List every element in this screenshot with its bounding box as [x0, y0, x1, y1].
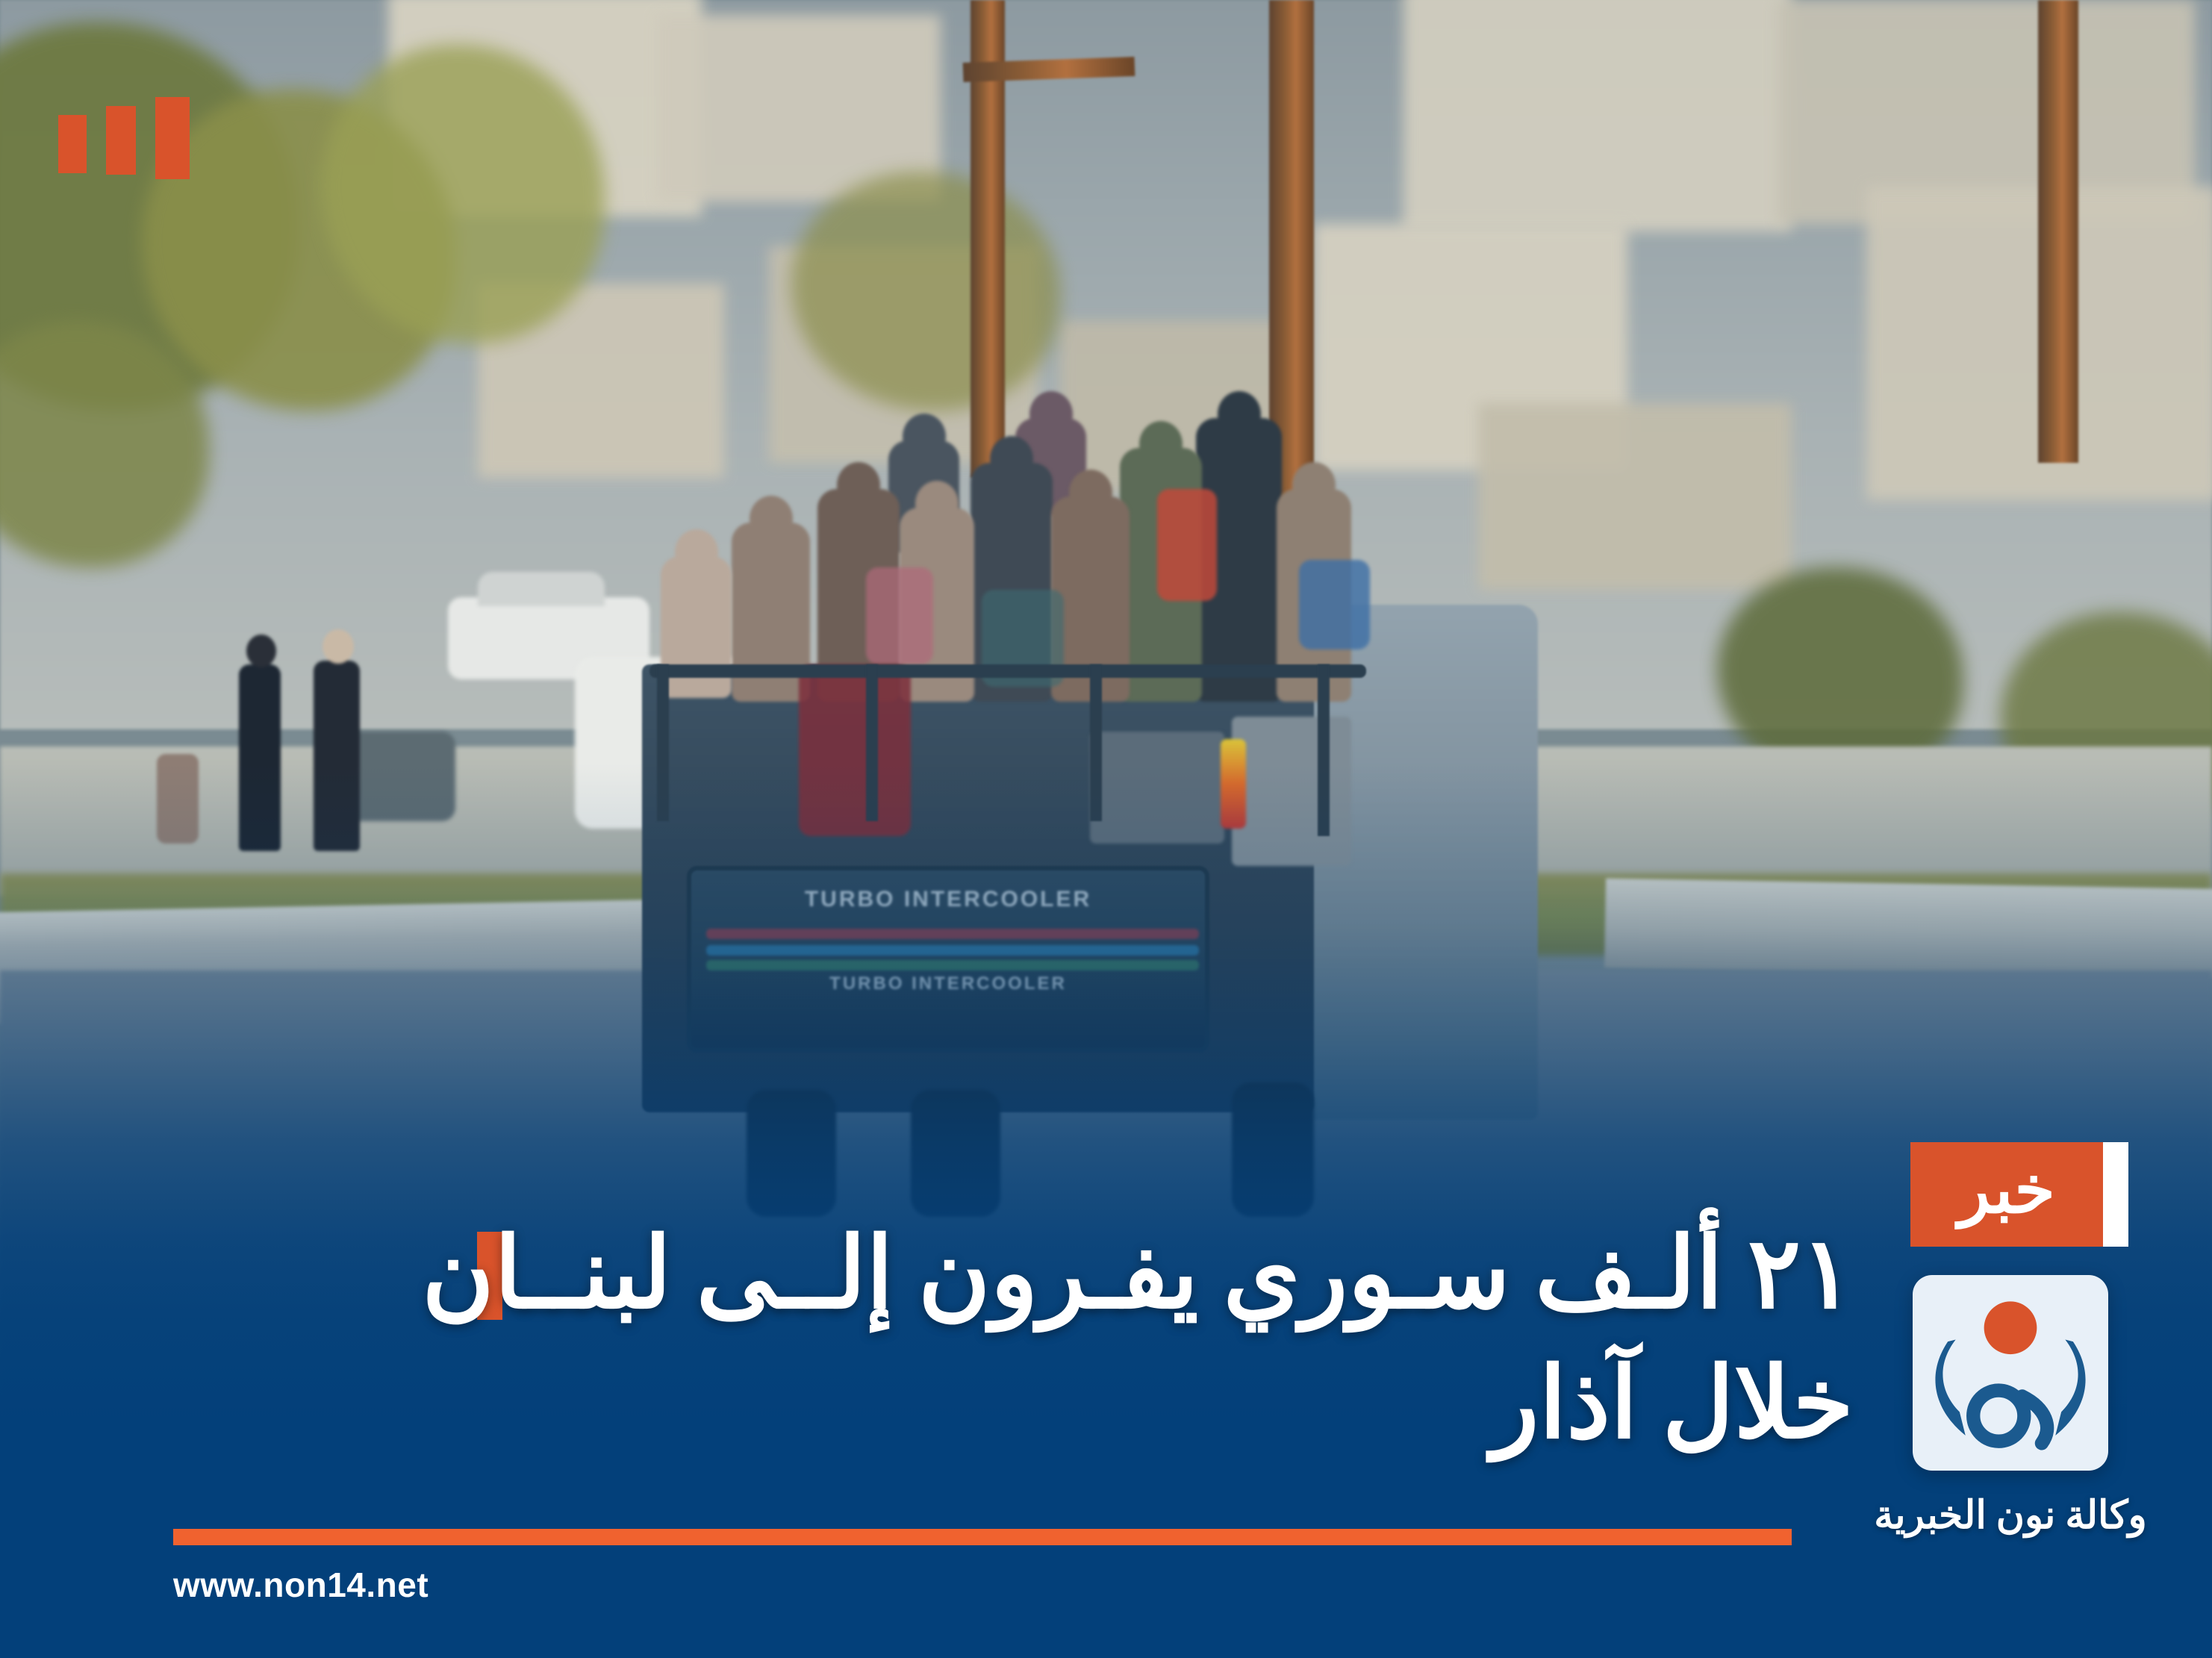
- luggage-stripe: [1221, 739, 1246, 829]
- rail-post: [1090, 664, 1102, 821]
- refugee-truck: TURBO INTERCOOLER TURBO INTERCOOLER: [642, 418, 1568, 1202]
- passenger-clothing: [1299, 560, 1370, 649]
- tailgate-text-bottom: TURBO INTERCOOLER: [691, 973, 1205, 994]
- rail-post: [657, 664, 669, 821]
- rail-post: [1318, 664, 1330, 836]
- news-badge-bar: [2103, 1142, 2128, 1247]
- headline-line-2: خلال آذار: [226, 1339, 1854, 1469]
- rail-post: [866, 664, 878, 821]
- pedestrian: [239, 664, 281, 851]
- headline-line-1: ٢١ ألـف سـوري يفـرون إلــى لبنــان: [226, 1209, 1854, 1339]
- footer-divider: [173, 1529, 1792, 1545]
- passenger-clothing: [1157, 489, 1217, 601]
- corner-tick-marks: [58, 97, 190, 179]
- tick-mark: [58, 115, 87, 173]
- tailgate-text-top: TURBO INTERCOOLER: [691, 887, 1205, 912]
- pedestrian: [157, 754, 199, 844]
- passenger-clothing: [866, 567, 933, 664]
- tick-mark: [155, 97, 190, 179]
- website-url[interactable]: www.non14.net: [173, 1565, 429, 1605]
- news-badge-wrapper: خبر: [1910, 1142, 2103, 1247]
- tailgate-stripe: [706, 960, 1199, 970]
- news-card: TURBO INTERCOOLER TURBO INTERCOOLER ٢١ أ…: [0, 0, 2212, 1658]
- tick-mark: [106, 106, 136, 175]
- noon-agency-logo: [1913, 1275, 2108, 1471]
- brand-column: خبر وكالة نون الخبرية: [1861, 1142, 2160, 1538]
- luggage: [1232, 717, 1351, 866]
- truck-wheel: [747, 1090, 836, 1217]
- truck-tailgate: TURBO INTERCOOLER TURBO INTERCOOLER: [687, 866, 1209, 1053]
- agency-name: وكالة نون الخبرية: [1861, 1493, 2160, 1538]
- background-building: [1403, 0, 1792, 231]
- truck-wheel: [911, 1090, 1000, 1217]
- headline-block: ٢١ ألـف سـوري يفـرون إلــى لبنــان خلال …: [226, 1209, 1854, 1469]
- tailgate-stripe: [706, 945, 1199, 956]
- concrete-barrier: [1604, 878, 2212, 980]
- utility-pole: [2038, 0, 2078, 463]
- tailgate-stripe: [706, 929, 1199, 939]
- pedestrian: [314, 661, 360, 851]
- luggage: [1090, 732, 1224, 844]
- truck-wheel: [1232, 1082, 1314, 1217]
- news-badge: خبر: [1910, 1142, 2103, 1247]
- truck-bed-rail: [649, 664, 1366, 678]
- passenger-clothing: [799, 664, 911, 836]
